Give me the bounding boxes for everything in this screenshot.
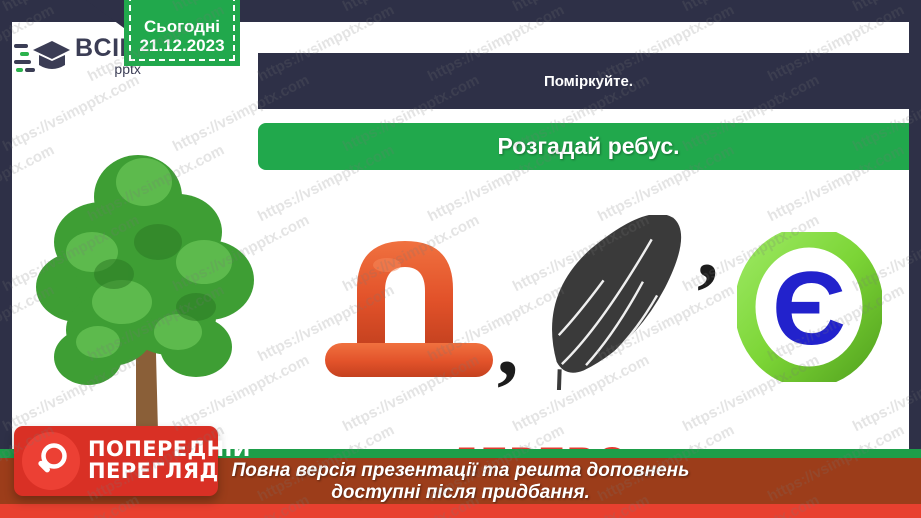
instruction-text: Поміркуйте. — [544, 73, 633, 90]
date-badge-label: Сьогодні — [144, 17, 220, 37]
feather-image — [517, 215, 717, 390]
date-badge: Сьогодні 21.12.2023 — [124, 0, 240, 66]
watermark-text: https://vsimpptx.com — [510, 0, 652, 15]
magnifier-icon — [22, 432, 80, 490]
preview-badge-line1: ПОПЕРЕДНІЙ — [88, 439, 251, 461]
instruction-bar: Поміркуйте. — [258, 53, 909, 109]
purchase-notice-line2: доступні після придбання. — [331, 482, 590, 503]
footer-red-strip — [0, 504, 921, 518]
task-text: Розгадай ребус. — [497, 133, 679, 160]
svg-text:Є: Є — [772, 251, 846, 367]
tree-illustration — [18, 102, 268, 442]
green-ring-with-ye: Є — [737, 232, 882, 382]
watermark-text: https://vsimpptx.com — [850, 0, 921, 15]
slide-canvas: BCIM pptx — [12, 22, 909, 496]
preview-badge-line2: ПЕРЕГЛЯД — [88, 461, 251, 483]
rebus-puzzle: , , — [312, 197, 909, 417]
preview-badge[interactable]: ПОПЕРЕДНІЙ ПЕРЕГЛЯД — [14, 426, 218, 496]
watermark-text: https://vsimpptx.com — [680, 0, 822, 15]
task-bar: Розгадай ребус. — [258, 123, 909, 170]
graduation-cap-icon — [14, 34, 70, 78]
letter-d-plasticine — [317, 217, 507, 397]
purchase-notice-line1: Повна версія презентації та решта доповн… — [232, 460, 690, 481]
watermark-text: https://vsimpptx.com — [340, 0, 482, 15]
apostrophe-1: , — [497, 302, 519, 388]
apostrophe-2: , — [697, 205, 719, 291]
date-badge-value: 21.12.2023 — [139, 36, 224, 56]
